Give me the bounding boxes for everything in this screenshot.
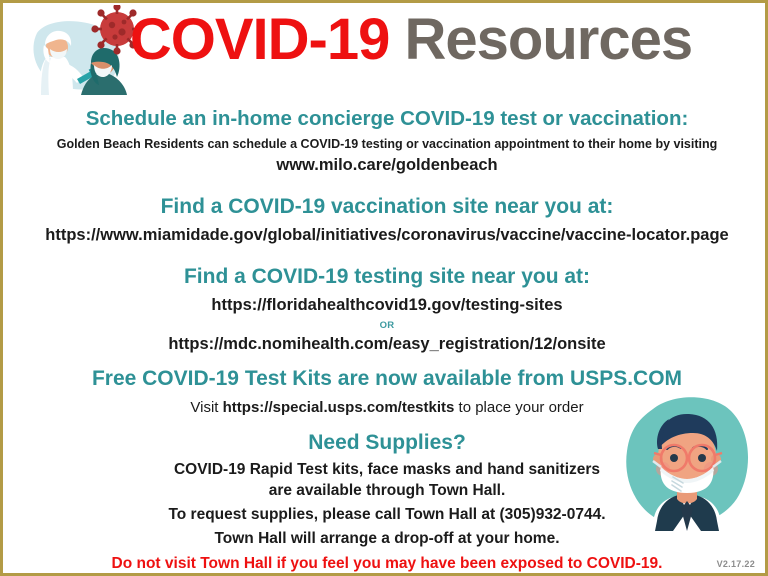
section-schedule: Schedule an in-home concierge COVID-19 t… <box>3 107 768 176</box>
supplies-heading: Need Supplies? <box>11 431 763 455</box>
version-label: V2.17.22 <box>717 559 755 569</box>
section-testing-site: Find a COVID-19 testing site near you at… <box>3 265 768 355</box>
supplies-line-4: Town Hall will arrange a drop-off at you… <box>11 529 763 550</box>
page-title-resources: Resources <box>389 7 692 72</box>
supplies-line-2: are available through Town Hall. <box>11 481 763 502</box>
covid-resources-flyer: COVID-19 Resources Schedule an in-home c… <box>0 0 768 576</box>
test-kits-visit-line: Visit https://special.usps.com/testkits … <box>11 398 763 418</box>
section-test-kits: Free COVID-19 Test Kits are now availabl… <box>3 367 768 418</box>
vaccination-site-heading: Find a COVID-19 vaccination site near yo… <box>11 195 763 219</box>
test-kits-heading: Free COVID-19 Test Kits are now availabl… <box>11 367 763 391</box>
testing-site-heading: Find a COVID-19 testing site near you at… <box>11 265 763 289</box>
vaccination-site-url[interactable]: https://www.miamidade.gov/global/initiat… <box>11 225 763 246</box>
supplies-line-1: COVID-19 Rapid Test kits, face masks and… <box>11 460 763 481</box>
section-supplies: Need Supplies? COVID-19 Rapid Test kits,… <box>3 431 768 575</box>
test-kits-visit-suffix: to place your order <box>454 399 583 416</box>
testing-site-url-2[interactable]: https://mdc.nomihealth.com/easy_registra… <box>11 334 763 355</box>
page-title: COVID-19 Resources <box>51 11 768 69</box>
supplies-line-3: To request supplies, please call Town Ha… <box>11 505 763 526</box>
schedule-description: Golden Beach Residents can schedule a CO… <box>11 136 763 152</box>
schedule-url[interactable]: www.milo.care/goldenbeach <box>11 155 763 176</box>
testing-site-separator: OR <box>11 320 763 331</box>
page-title-covid: COVID-19 <box>130 7 390 72</box>
testing-site-url-1[interactable]: https://floridahealthcovid19.gov/testing… <box>11 295 763 316</box>
supplies-warning: Do not visit Town Hall if you feel you m… <box>11 554 763 575</box>
page-header: COVID-19 Resources <box>3 11 768 69</box>
schedule-heading: Schedule an in-home concierge COVID-19 t… <box>11 107 763 131</box>
test-kits-visit-prefix: Visit <box>190 399 222 416</box>
test-kits-url[interactable]: https://special.usps.com/testkits <box>223 399 455 416</box>
section-vaccination-site: Find a COVID-19 vaccination site near yo… <box>3 195 768 247</box>
